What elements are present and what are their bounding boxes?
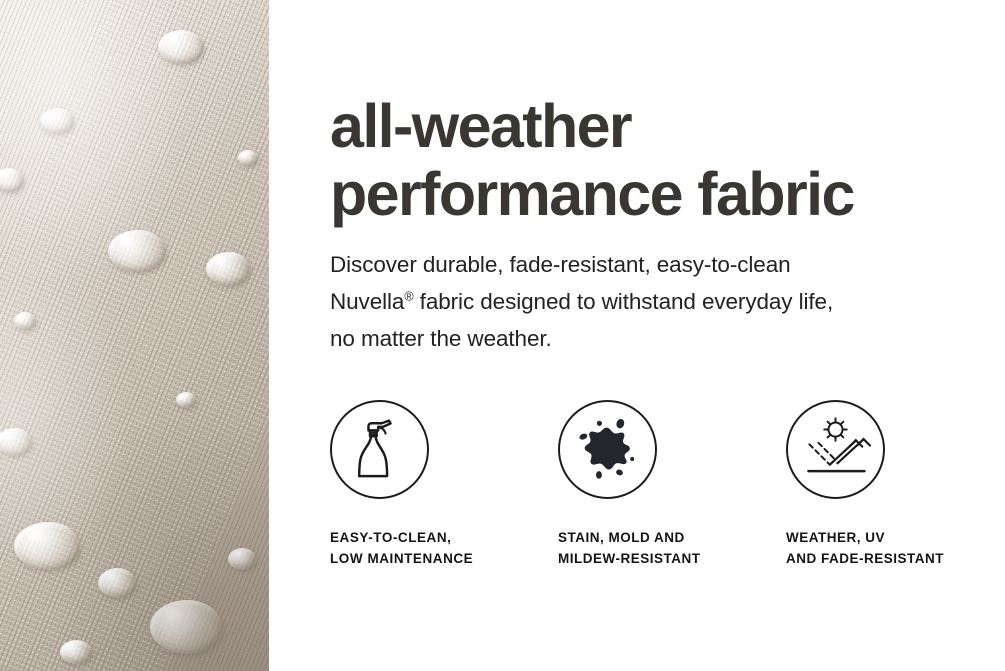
icon-wrapper — [558, 400, 758, 499]
all-weather-fabric-banner: all-weather performance fabric Discover … — [0, 0, 1005, 671]
subcopy-line-1: Discover durable, fade-resistant, easy-t… — [330, 252, 791, 277]
subcopy-line-3: no matter the weather. — [330, 326, 552, 351]
feature-label: WEATHER, UV AND FADE-RESISTANT — [786, 499, 986, 569]
feature-item-easy-to-clean: EASY-TO-CLEAN, LOW MAINTENANCE — [330, 400, 530, 569]
water-beading-fabric-photo — [0, 0, 269, 671]
brand-name: Nuvella — [330, 289, 404, 314]
marketing-content: all-weather performance fabric Discover … — [330, 0, 990, 671]
spray-bottle-icon — [330, 400, 429, 499]
subcopy-line-2-rest: fabric designed to withstand everyday li… — [414, 289, 834, 314]
registered-trademark-symbol: ® — [404, 290, 413, 304]
subcopy-paragraph: Discover durable, fade-resistant, easy-t… — [330, 246, 833, 357]
feature-label: STAIN, MOLD AND MILDEW-RESISTANT — [558, 499, 758, 569]
feature-label: EASY-TO-CLEAN, LOW MAINTENANCE — [330, 499, 530, 569]
sun-uv-reflect-icon — [786, 400, 885, 499]
page-title: all-weather performance fabric — [330, 92, 854, 228]
fabric-lighting-overlay — [0, 0, 269, 671]
icon-wrapper — [786, 400, 986, 499]
icon-wrapper — [330, 400, 530, 499]
stain-splatter-icon — [558, 400, 657, 499]
feature-item-stain-resistant: STAIN, MOLD AND MILDEW-RESISTANT — [558, 400, 758, 569]
feature-item-weather-uv: WEATHER, UV AND FADE-RESISTANT — [786, 400, 986, 569]
